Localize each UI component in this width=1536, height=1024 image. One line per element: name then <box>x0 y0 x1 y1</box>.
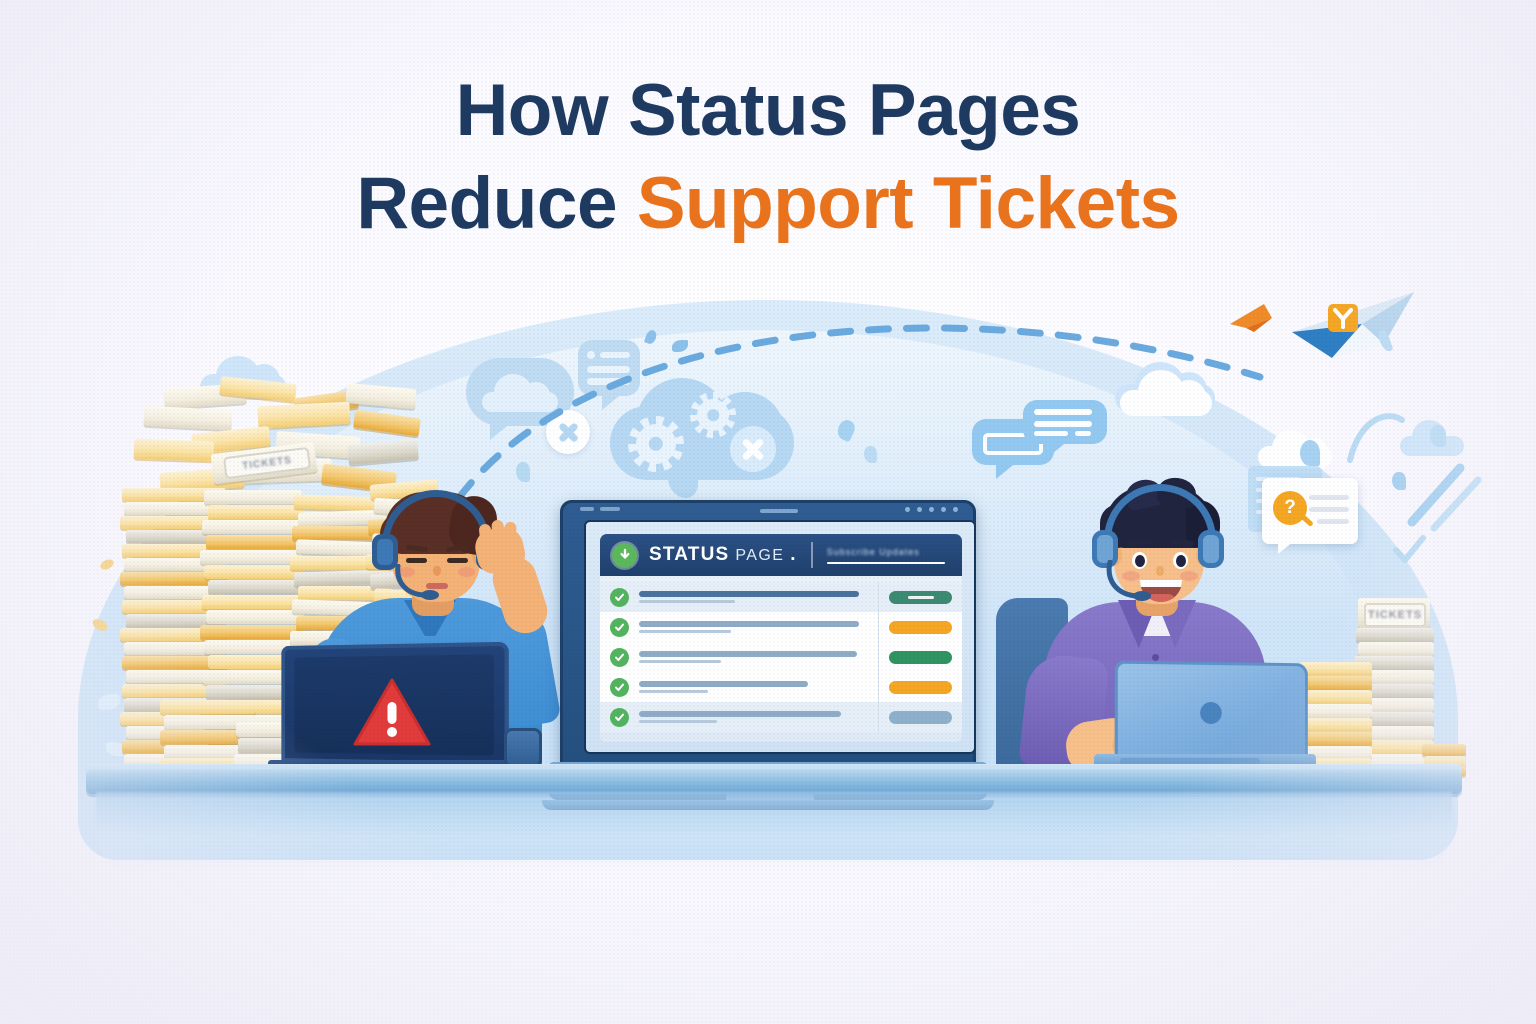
status-page-header: STATUS PAGE . Subscribe Updates <box>600 534 962 576</box>
row-separator <box>878 642 879 672</box>
row-separator <box>878 582 879 612</box>
page-title: How Status Pages Reduce Support Tickets <box>0 74 1536 240</box>
status-badge <box>889 651 952 664</box>
row-text-placeholder <box>639 591 868 603</box>
brand-dot-text: . <box>790 544 796 566</box>
title-line-2-prefix: Reduce <box>356 163 636 244</box>
check-circle-icon <box>610 618 629 637</box>
dark-laptop <box>268 644 518 776</box>
status-page-meta: Subscribe Updates <box>827 547 945 564</box>
status-badge <box>889 621 952 634</box>
orange-wing-icon <box>1228 298 1274 334</box>
table-row[interactable] <box>600 702 962 732</box>
brand-bold-text: STATUS <box>649 544 729 566</box>
status-page-body <box>600 576 962 742</box>
row-separator <box>878 702 879 732</box>
header-divider <box>811 542 813 568</box>
warning-triangle-icon <box>352 676 432 748</box>
deco-dot <box>1300 440 1320 466</box>
illustration-canvas: ? <box>0 0 1536 1024</box>
row-text-placeholder <box>639 651 868 663</box>
table-row[interactable] <box>600 612 962 642</box>
status-badge <box>889 711 952 724</box>
meta-blurred-text: Subscribe Updates <box>827 547 945 557</box>
check-circle-icon <box>610 678 629 697</box>
status-page-brand: STATUS PAGE . <box>649 544 797 566</box>
check-circle-icon <box>610 708 629 727</box>
deco-dot <box>1430 425 1446 447</box>
webcam-icon <box>760 509 798 513</box>
light-laptop <box>1094 662 1316 780</box>
ticket-stack-label: TICKETS <box>1368 609 1422 621</box>
brand-light-text: PAGE <box>735 547 784 565</box>
row-separator <box>878 612 879 642</box>
laptop-lid: STATUS PAGE . Subscribe Updates <box>560 500 976 768</box>
ticket-stack-right: TICKETS <box>1300 598 1470 774</box>
row-text-placeholder <box>639 681 868 693</box>
paper-plane-icon <box>1288 288 1418 368</box>
pile-label-text: TICKETS <box>242 455 293 472</box>
deco-stripes <box>1400 450 1490 540</box>
title-line-2-highlight: Support Tickets <box>637 163 1180 244</box>
row-separator <box>878 672 879 702</box>
meta-underline <box>827 562 945 564</box>
lid-indicator-dots <box>905 507 958 512</box>
check-deco-icon <box>1390 530 1430 570</box>
row-text-placeholder <box>639 711 868 723</box>
desk-reflection <box>96 792 1452 872</box>
check-circle-icon <box>610 588 629 607</box>
table-row[interactable] <box>600 672 962 702</box>
status-badge <box>889 591 952 604</box>
table-row[interactable] <box>600 582 962 612</box>
lid-ports <box>580 507 620 511</box>
table-row[interactable] <box>600 642 962 672</box>
desk-device <box>504 728 542 768</box>
laptop-screen: STATUS PAGE . Subscribe Updates <box>586 522 974 752</box>
title-line-1: How Status Pages <box>456 70 1081 151</box>
desk-surface <box>86 770 1462 794</box>
check-circle-icon <box>610 648 629 667</box>
row-text-placeholder <box>639 621 868 633</box>
download-circle-icon <box>612 543 637 568</box>
deco-dot <box>864 446 877 463</box>
status-badge <box>889 681 952 694</box>
